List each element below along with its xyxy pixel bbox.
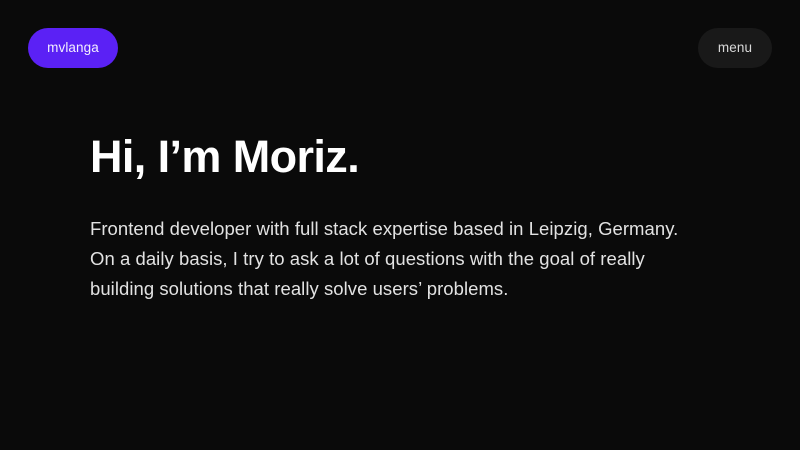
hero-section: Hi, I’m Moriz. Frontend developer with f… (90, 132, 730, 304)
top-navigation-bar: mvlanga menu (0, 28, 800, 68)
logo-label: mvlanga (47, 41, 99, 55)
logo-badge[interactable]: mvlanga (28, 28, 118, 68)
page-title: Hi, I’m Moriz. (90, 132, 730, 182)
menu-button-label: menu (718, 41, 752, 55)
menu-button[interactable]: menu (698, 28, 772, 68)
page-root: mvlanga menu Hi, I’m Moriz. Frontend dev… (0, 0, 800, 450)
hero-description: Frontend developer with full stack exper… (90, 214, 704, 304)
